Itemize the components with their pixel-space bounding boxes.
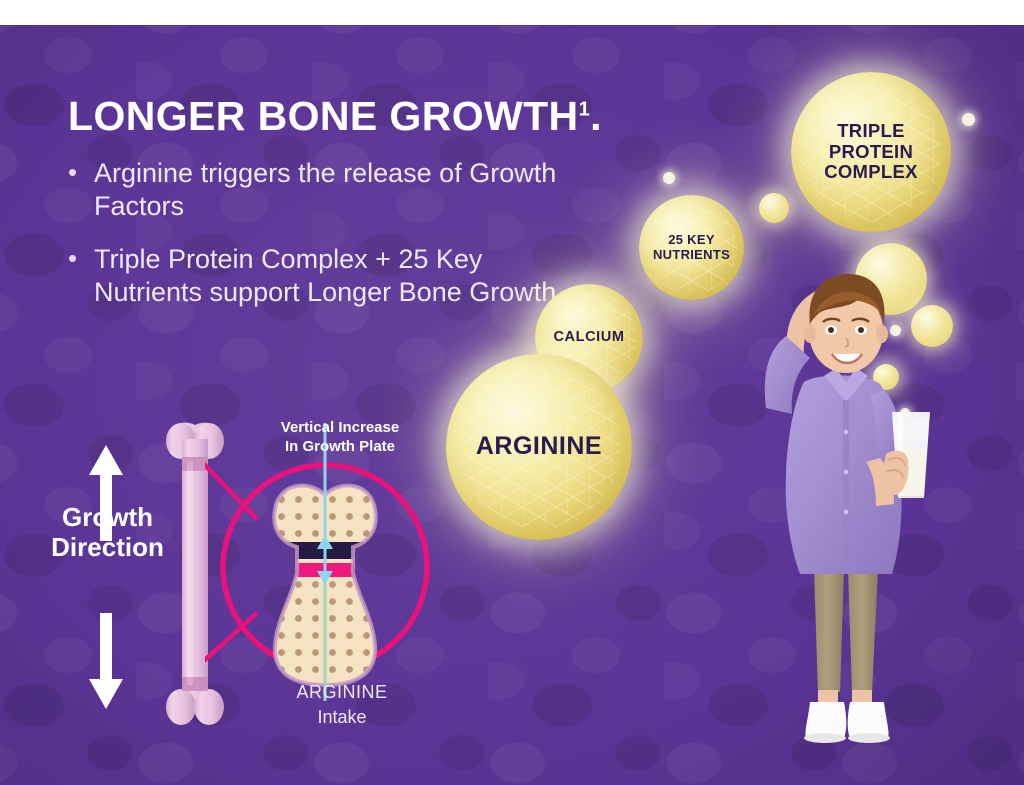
bubble-arginine: ARGININE	[446, 354, 632, 540]
leg-left	[814, 570, 844, 692]
bullet-list: • Arginine triggers the release of Growt…	[68, 157, 568, 329]
arrow-down-icon	[89, 613, 123, 709]
ankle-right	[852, 690, 872, 704]
ear-left	[804, 325, 816, 343]
pupil-right	[858, 327, 864, 333]
vertical-increase-line: In Growth Plate	[255, 437, 425, 456]
arginine-intake-line: ARGININE	[262, 680, 422, 705]
bubble-dot	[663, 172, 675, 184]
bubble-label-line: PROTEIN	[824, 142, 918, 162]
shoe-right	[848, 702, 889, 738]
shirt-button	[844, 510, 849, 515]
footnote-marker: 1	[579, 98, 591, 120]
vertical-increase-label: Vertical Increase In Growth Plate	[255, 418, 425, 456]
shirt-button	[844, 430, 849, 435]
bullet-text: Arginine triggers the release of Growth …	[94, 157, 568, 223]
page-title-text: LONGER BONE GROWTH	[68, 93, 579, 139]
arginine-intake-line: Intake	[262, 705, 422, 730]
child-photo	[752, 240, 942, 760]
bullet-marker-icon: •	[68, 243, 94, 309]
bubble-25-key-nutrients: 25 KEY NUTRIENTS	[639, 195, 744, 300]
page-title: LONGER BONE GROWTH1.	[68, 93, 602, 140]
list-item: • Arginine triggers the release of Growt…	[68, 157, 568, 223]
leg-right	[848, 570, 878, 692]
growth-direction-arrows	[82, 443, 130, 711]
bullet-marker-icon: •	[68, 157, 94, 223]
poster-canvas: LONGER BONE GROWTH1. • Arginine triggers…	[0, 0, 1024, 785]
growth-plate-magnifier	[205, 423, 445, 713]
arginine-intake-label: ARGININE Intake	[262, 680, 422, 730]
poster-background: LONGER BONE GROWTH1. • Arginine triggers…	[0, 25, 1024, 785]
vertical-increase-line: Vertical Increase	[255, 418, 425, 437]
bubble-label-line: 25 KEY	[653, 233, 730, 247]
bubble-label: ARGININE	[476, 433, 602, 461]
shoe-left	[805, 702, 846, 738]
shoe-sole-right	[848, 733, 890, 743]
bubble-label: CALCIUM	[553, 330, 624, 346]
bubble-label-line: TRIPLE	[824, 121, 918, 141]
list-item: • Triple Protein Complex + 25 Key Nutrie…	[68, 243, 568, 309]
bone-knob	[166, 689, 196, 725]
shoe-sole-left	[804, 733, 846, 743]
bone-highlight	[187, 461, 193, 685]
bubble-dot	[962, 113, 975, 126]
bubble-small	[759, 193, 789, 223]
page-title-period: .	[590, 93, 602, 139]
ear-right	[876, 325, 888, 343]
shirt-button	[844, 470, 849, 475]
ankle-left	[818, 690, 838, 704]
shirt-placket	[843, 400, 849, 572]
pupil-left	[828, 327, 834, 333]
bubble-label-line: COMPLEX	[824, 162, 918, 182]
magnifier-connector-line	[205, 457, 257, 519]
bubble-label: 25 KEY NUTRIENTS	[653, 233, 730, 262]
magnifier-connector-line	[205, 613, 257, 667]
bubble-triple-protein-complex: TRIPLE PROTEIN COMPLEX	[791, 72, 951, 232]
bullet-text: Triple Protein Complex + 25 Key Nutrient…	[94, 243, 568, 309]
bubble-label: TRIPLE PROTEIN COMPLEX	[824, 121, 918, 182]
bubble-label-line: NUTRIENTS	[653, 248, 730, 262]
